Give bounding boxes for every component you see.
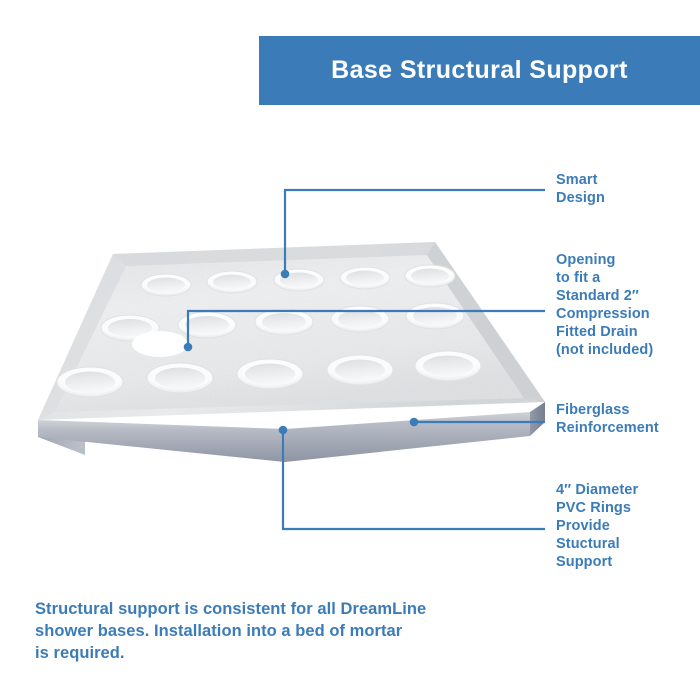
- caption-line: Structural support is consistent for all…: [35, 598, 505, 620]
- caption-line: shower bases. Installation into a bed of…: [35, 620, 505, 642]
- pvc-ring: [147, 363, 213, 393]
- pvc-ring: [405, 265, 455, 287]
- callout-line: Design: [556, 189, 605, 207]
- pvc-ring: [141, 274, 191, 296]
- callout-line: Provide: [556, 517, 638, 535]
- base-right-wall: [530, 402, 545, 436]
- base-front-wall-right: [285, 412, 530, 462]
- pvc-ring: [327, 355, 393, 385]
- callout-line: Smart: [556, 171, 605, 189]
- callout-line: Compression: [556, 305, 653, 323]
- caption-line: is required.: [35, 642, 505, 664]
- bottom-caption: Structural support is consistent for all…: [35, 598, 505, 664]
- callout-line: (not included): [556, 341, 653, 359]
- header-banner: Base Structural Support: [259, 36, 700, 105]
- pvc-ring: [340, 267, 390, 289]
- pvc-ring: [57, 367, 123, 397]
- pvc-ring: [237, 359, 303, 389]
- callout-line: Stuctural: [556, 535, 638, 553]
- product-illustration: [0, 150, 560, 490]
- pvc-ring: [178, 312, 236, 338]
- callout-line: Support: [556, 553, 638, 571]
- callout-pvc-rings: 4″ Diameter PVC Rings Provide Stuctural …: [556, 481, 638, 571]
- pvc-ring: [415, 351, 481, 381]
- callout-line: Reinforcement: [556, 419, 659, 437]
- pvc-ring: [207, 271, 257, 293]
- callout-line: Fitted Drain: [556, 323, 653, 341]
- drain-opening: [132, 331, 188, 357]
- pvc-ring: [406, 303, 464, 329]
- callout-line: Fiberglass: [556, 401, 659, 419]
- callout-line: PVC Rings: [556, 499, 638, 517]
- callout-line: Standard 2″: [556, 287, 653, 305]
- pvc-ring: [255, 309, 313, 335]
- shower-base-graphic: [0, 150, 560, 490]
- callout-smart-design: Smart Design: [556, 171, 605, 207]
- page-title: Base Structural Support: [331, 56, 628, 85]
- callout-line: to fit a: [556, 269, 653, 287]
- callout-opening: Opening to fit a Standard 2″ Compression…: [556, 251, 653, 359]
- pvc-ring: [331, 306, 389, 332]
- callout-line: Opening: [556, 251, 653, 269]
- callout-fiberglass: Fiberglass Reinforcement: [556, 401, 659, 437]
- pvc-ring: [274, 269, 324, 291]
- callout-line: 4″ Diameter: [556, 481, 638, 499]
